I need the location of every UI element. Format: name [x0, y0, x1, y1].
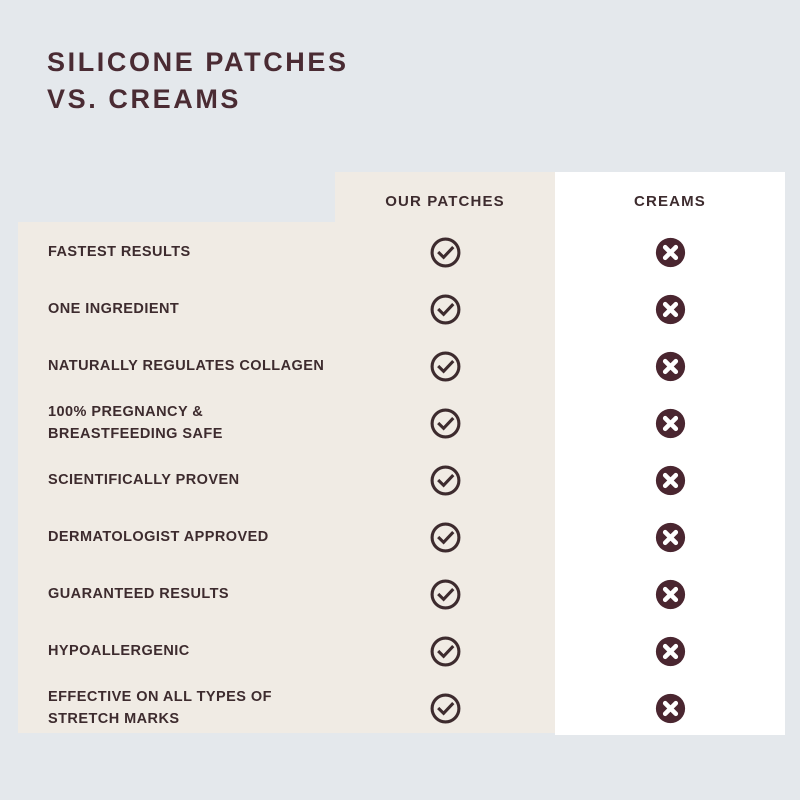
- cell-creams: [555, 566, 785, 623]
- cell-patches: [335, 338, 555, 395]
- table-row: HYPOALLERGENIC: [0, 623, 800, 680]
- cell-patches: [335, 566, 555, 623]
- cell-patches: [335, 224, 555, 281]
- row-feature-label: EFFECTIVE ON ALL TYPES OF STRETCH MARKS: [48, 687, 328, 729]
- row-feature-label: HYPOALLERGENIC: [48, 641, 328, 662]
- table-row: GUARANTEED RESULTS: [0, 566, 800, 623]
- cell-patches: [335, 680, 555, 737]
- table-row: SCIENTIFICALLY PROVEN: [0, 452, 800, 509]
- cross-circle-icon: [655, 237, 686, 268]
- column-header-creams: CREAMS: [555, 191, 785, 213]
- check-circle-icon: [430, 408, 461, 439]
- row-feature-label: GUARANTEED RESULTS: [48, 584, 328, 605]
- cell-creams: [555, 338, 785, 395]
- row-feature-label: ONE INGREDIENT: [48, 299, 328, 320]
- row-feature-label: FASTEST RESULTS: [48, 242, 328, 263]
- check-circle-icon: [430, 636, 461, 667]
- row-feature-label: 100% PREGNANCY & BREASTFEEDING SAFE: [48, 402, 328, 444]
- table-row: ONE INGREDIENT: [0, 281, 800, 338]
- check-circle-icon: [430, 465, 461, 496]
- cell-patches: [335, 452, 555, 509]
- table-row: 100% PREGNANCY & BREASTFEEDING SAFE: [0, 395, 800, 452]
- row-feature-label: DERMATOLOGIST APPROVED: [48, 527, 328, 548]
- cell-creams: [555, 224, 785, 281]
- cell-creams: [555, 395, 785, 452]
- page-title: SILICONE PATCHES VS. CREAMS: [47, 44, 567, 119]
- cell-creams: [555, 452, 785, 509]
- cross-circle-icon: [655, 465, 686, 496]
- check-circle-icon: [430, 351, 461, 382]
- check-circle-icon: [430, 294, 461, 325]
- cell-creams: [555, 680, 785, 737]
- cell-patches: [335, 623, 555, 680]
- check-circle-icon: [430, 579, 461, 610]
- cross-circle-icon: [655, 636, 686, 667]
- cell-creams: [555, 509, 785, 566]
- cross-circle-icon: [655, 522, 686, 553]
- check-circle-icon: [430, 237, 461, 268]
- page-title-line-2: VS. CREAMS: [47, 81, 567, 118]
- cell-patches: [335, 509, 555, 566]
- comparison-table-rows: FASTEST RESULTSONE INGREDIENTNATURALLY R…: [0, 224, 800, 737]
- cross-circle-icon: [655, 351, 686, 382]
- check-circle-icon: [430, 522, 461, 553]
- table-row: NATURALLY REGULATES COLLAGEN: [0, 338, 800, 395]
- table-row: DERMATOLOGIST APPROVED: [0, 509, 800, 566]
- cell-creams: [555, 281, 785, 338]
- cross-circle-icon: [655, 408, 686, 439]
- table-row: FASTEST RESULTS: [0, 224, 800, 281]
- cell-patches: [335, 395, 555, 452]
- row-feature-label: SCIENTIFICALLY PROVEN: [48, 470, 328, 491]
- cross-circle-icon: [655, 693, 686, 724]
- page-title-line-1: SILICONE PATCHES: [47, 44, 567, 81]
- column-header-our-patches: OUR PATCHES: [335, 191, 555, 213]
- check-circle-icon: [430, 693, 461, 724]
- row-feature-label: NATURALLY REGULATES COLLAGEN: [48, 356, 328, 377]
- table-row: EFFECTIVE ON ALL TYPES OF STRETCH MARKS: [0, 680, 800, 737]
- cell-patches: [335, 281, 555, 338]
- cross-circle-icon: [655, 294, 686, 325]
- cross-circle-icon: [655, 579, 686, 610]
- cell-creams: [555, 623, 785, 680]
